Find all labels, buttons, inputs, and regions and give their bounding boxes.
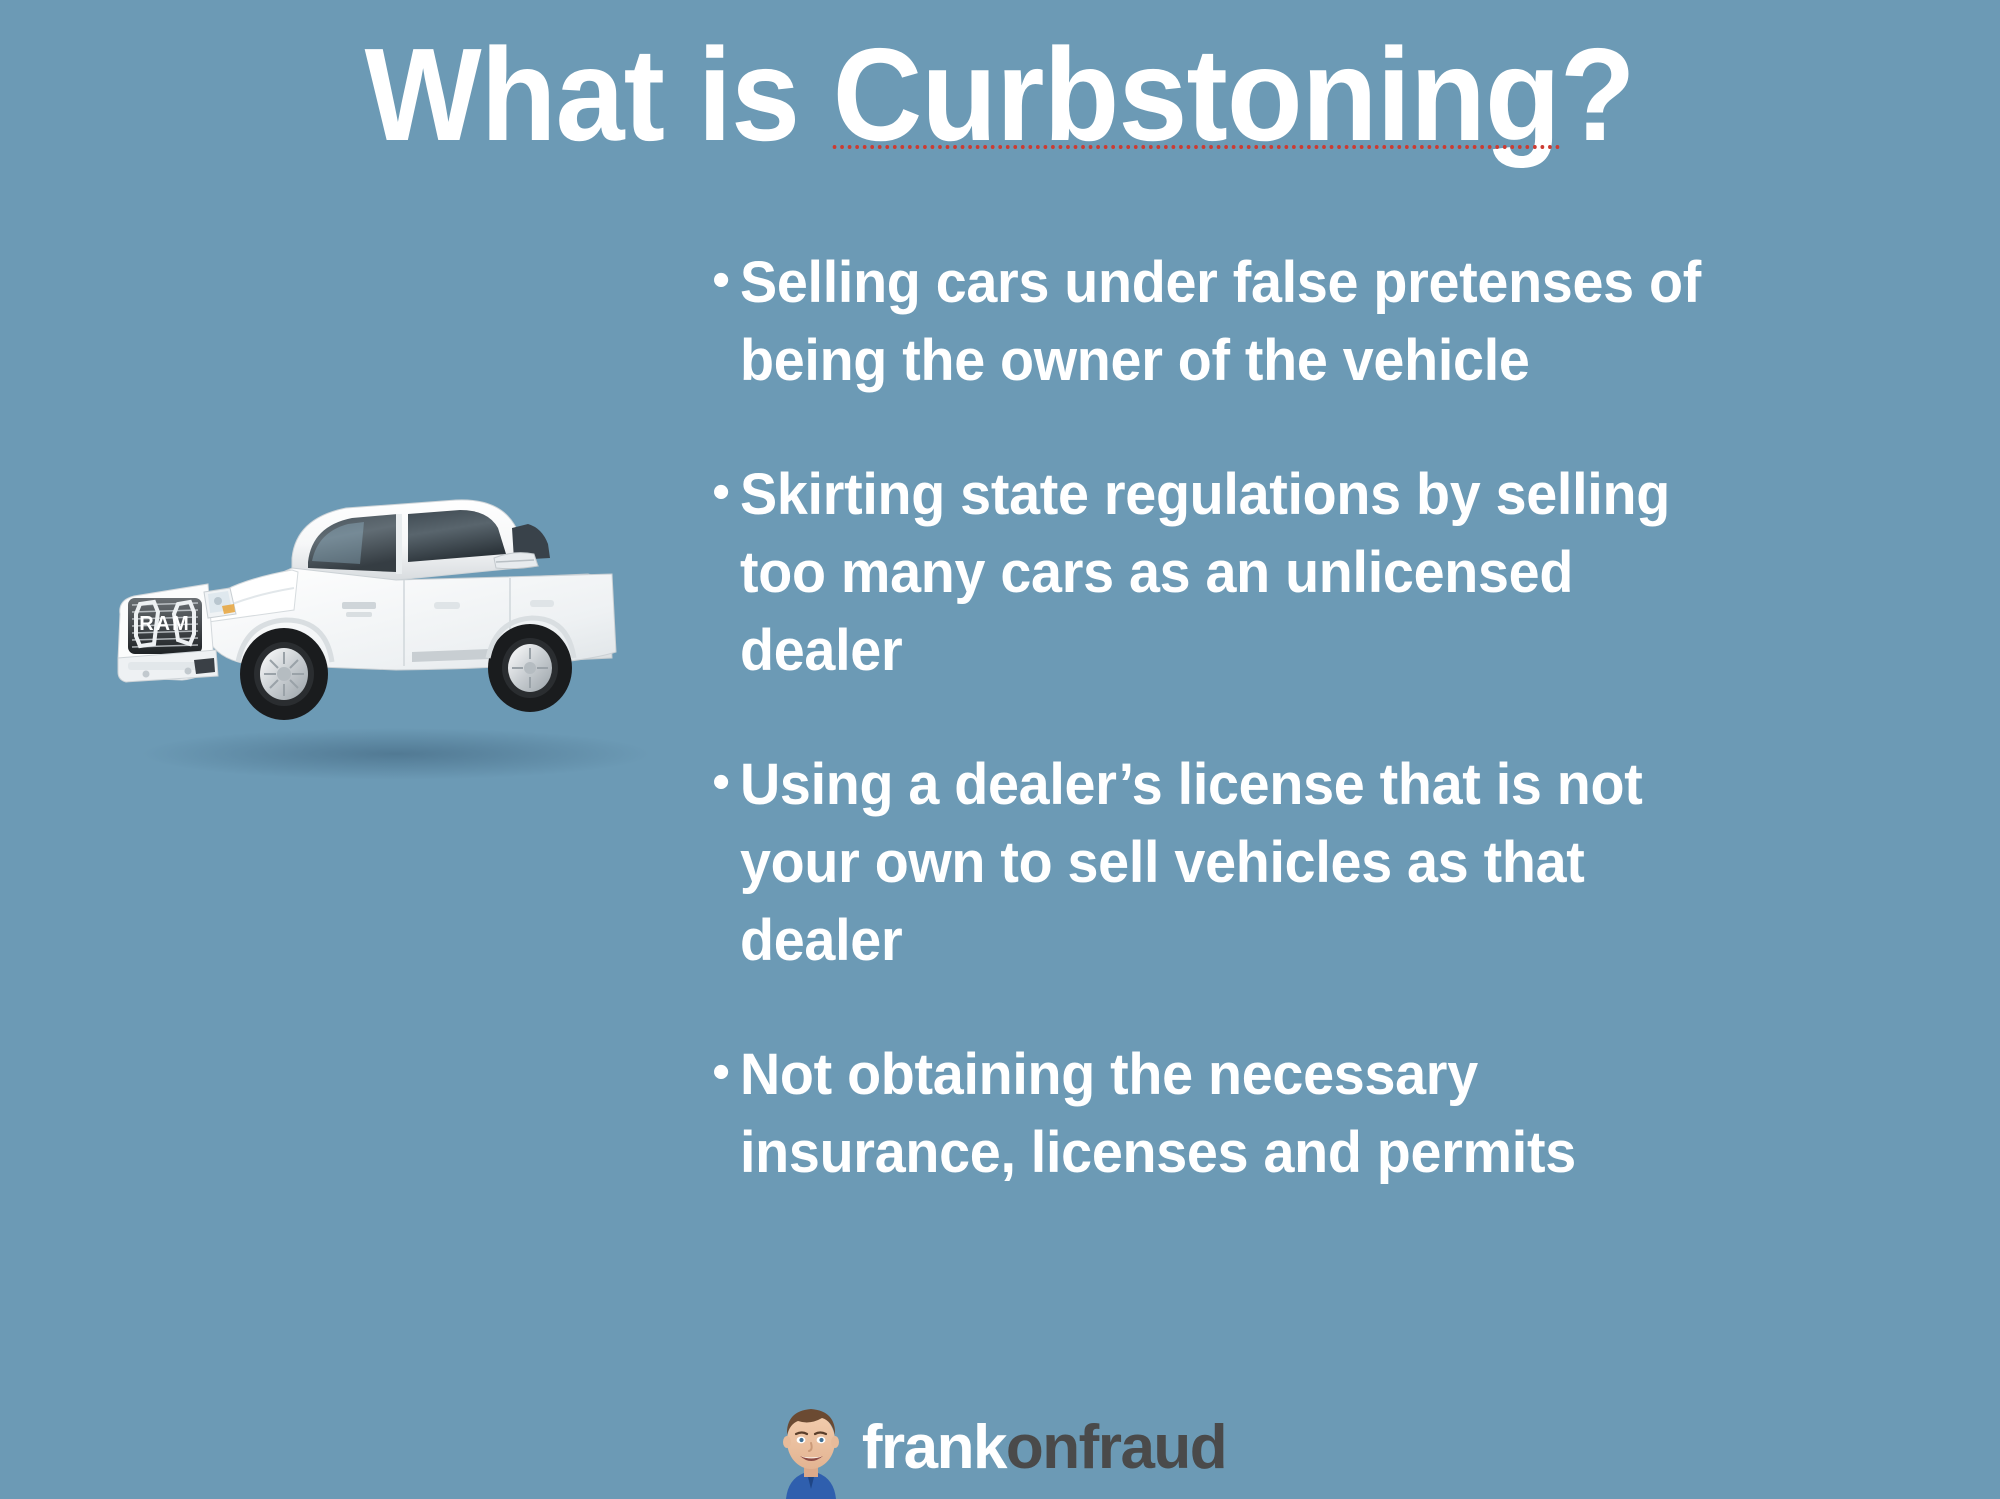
- bullet-marker-icon: •: [712, 1034, 740, 1110]
- bullet-list: • Selling cars under false pretenses of …: [712, 244, 1772, 1192]
- title-container: What is Curbstoning?: [0, 26, 2000, 165]
- footer-logo: frankonfraud: [0, 1389, 2000, 1499]
- title-misspelled-word: Curbstoning: [833, 26, 1560, 165]
- list-item: • Selling cars under false pretenses of …: [712, 244, 1772, 400]
- fender-badge: [342, 602, 376, 609]
- list-item: • Skirting state regulations by selling …: [712, 456, 1772, 690]
- rear-wheel: [488, 624, 572, 712]
- door-handle-front: [434, 602, 460, 609]
- door-handle-rear: [530, 600, 554, 607]
- bullet-text-2: Skirting state regulations by selling to…: [740, 456, 1731, 690]
- title-prefix: What is: [365, 21, 833, 168]
- fog-lamp: [194, 658, 215, 674]
- bullet-text-4: Not obtaining the necessary insurance, l…: [740, 1036, 1731, 1192]
- ram-badge-text: RAM: [139, 613, 191, 635]
- grille: RAM: [128, 598, 202, 654]
- truck-shadow: [141, 728, 651, 780]
- title-suffix: ?: [1560, 21, 1635, 168]
- brand-wordmark: frankonfraud: [862, 1417, 1226, 1499]
- bullet-marker-icon: •: [712, 744, 740, 820]
- list-item: • Not obtaining the necessary insurance,…: [712, 1036, 1772, 1192]
- brand-wordmark-frank: frank: [862, 1413, 1006, 1482]
- front-wheel: [240, 628, 328, 720]
- page-title: What is Curbstoning?: [365, 26, 1635, 165]
- bullet-marker-icon: •: [712, 454, 740, 530]
- list-item: • Using a dealer’s license that is not y…: [712, 746, 1772, 980]
- brand-wordmark-onfraud: onfraud: [1006, 1413, 1226, 1482]
- truck-image: RAM: [96, 462, 736, 792]
- avatar: [774, 1393, 848, 1499]
- slide-canvas: What is Curbstoning?: [0, 0, 2000, 1499]
- fender-badge-sub: [346, 612, 372, 617]
- bullet-text-3: Using a dealer’s license that is not you…: [740, 746, 1731, 980]
- bullet-text-1: Selling cars under false pretenses of be…: [740, 244, 1731, 400]
- bullet-marker-icon: •: [712, 242, 740, 318]
